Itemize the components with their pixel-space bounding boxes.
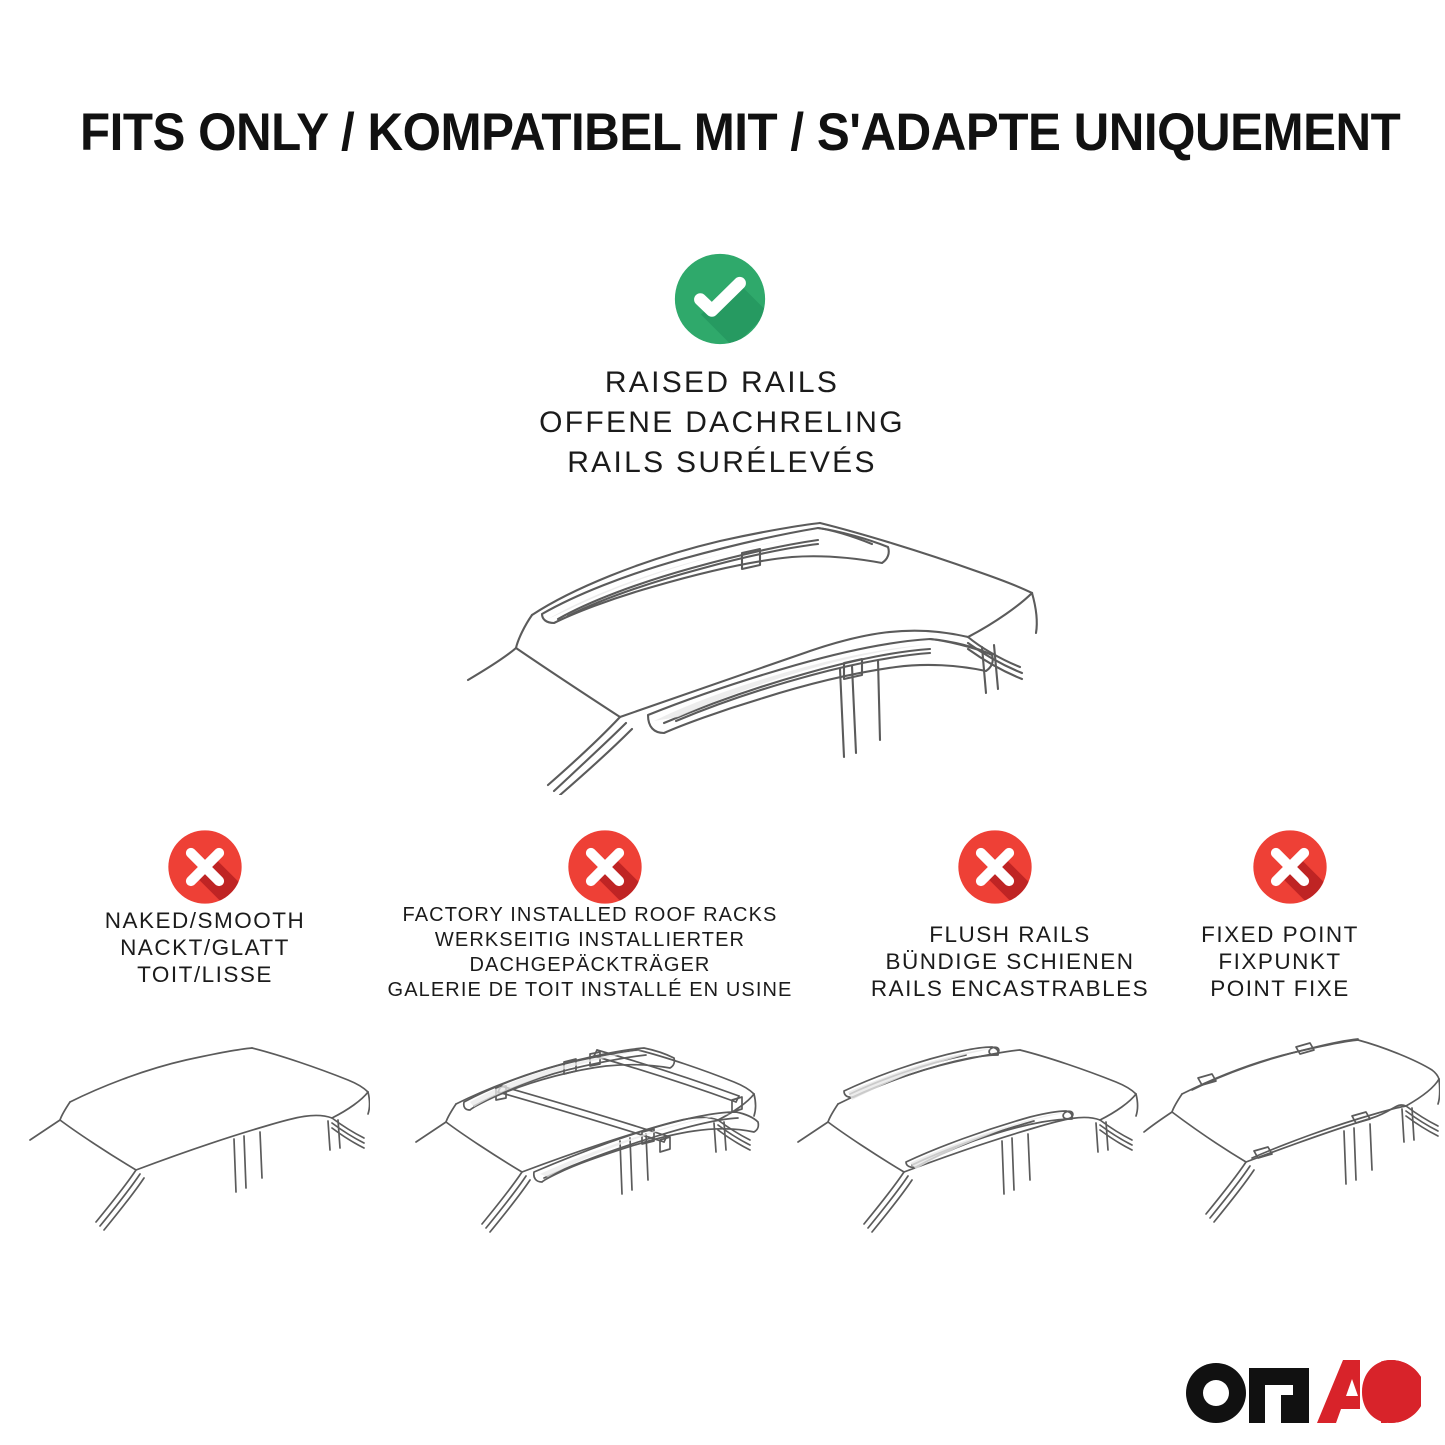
factory-racks-label-line-1: FACTORY INSTALLED ROOF RACKS <box>360 903 820 928</box>
red-x-circle-icon-fixed-point <box>1251 828 1329 906</box>
naked-smooth-label-line-1: NAKED/SMOOTH <box>35 907 375 934</box>
car-roof-with-raised-rails-illustration <box>420 495 1050 795</box>
compatible-label-line-3: RAILS SURÉLEVÉS <box>422 443 1022 483</box>
factory-racks-label-line-2: WERKSEITIG INSTALLIERTER <box>360 928 820 953</box>
compatible-label-group: RAISED RAILS OFFENE DACHRELING RAILS SUR… <box>422 363 1022 483</box>
page-title: FITS ONLY / KOMPATIBEL MIT / S'ADAPTE UN… <box>80 104 1289 162</box>
fixed-point-label-group: FIXED POINT FIXPUNKT POINT FIXE <box>1130 921 1430 1002</box>
omac-logo <box>1185 1355 1423 1427</box>
fixed-point-label-line-1: FIXED POINT <box>1130 921 1430 948</box>
compatible-label-line-2: OFFENE DACHRELING <box>422 403 1022 443</box>
green-check-circle-icon <box>672 251 768 347</box>
factory-racks-label-line-3: DACHGEPÄCKTRÄGER <box>360 953 820 978</box>
red-x-circle-icon-naked-smooth <box>166 828 244 906</box>
naked-smooth-label-line-3: TOIT/LISSE <box>35 961 375 988</box>
naked-smooth-label-group: NAKED/SMOOTH NACKT/GLATT TOIT/LISSE <box>35 907 375 988</box>
red-x-circle-icon-flush-rails <box>956 828 1034 906</box>
car-roof-with-flush-rails-illustration <box>778 1012 1140 1250</box>
car-roof-naked-smooth-illustration <box>18 1020 370 1250</box>
car-roof-with-factory-racks-illustration <box>398 1012 760 1250</box>
fixed-point-label-line-2: FIXPUNKT <box>1130 948 1430 975</box>
product-fitment-infographic: FITS ONLY / KOMPATIBEL MIT / S'ADAPTE UN… <box>0 0 1445 1445</box>
naked-smooth-label-line-2: NACKT/GLATT <box>35 934 375 961</box>
car-roof-with-fixed-points-illustration <box>1140 1012 1440 1250</box>
red-x-circle-icon-factory-racks <box>566 828 644 906</box>
compatible-label-line-1: RAISED RAILS <box>422 363 1022 403</box>
factory-racks-label-line-4: GALERIE DE TOIT INSTALLÉ EN USINE <box>360 978 820 1003</box>
fixed-point-label-line-3: POINT FIXE <box>1130 975 1430 1002</box>
factory-racks-label-group: FACTORY INSTALLED ROOF RACKS WERKSEITIG … <box>360 903 820 1003</box>
